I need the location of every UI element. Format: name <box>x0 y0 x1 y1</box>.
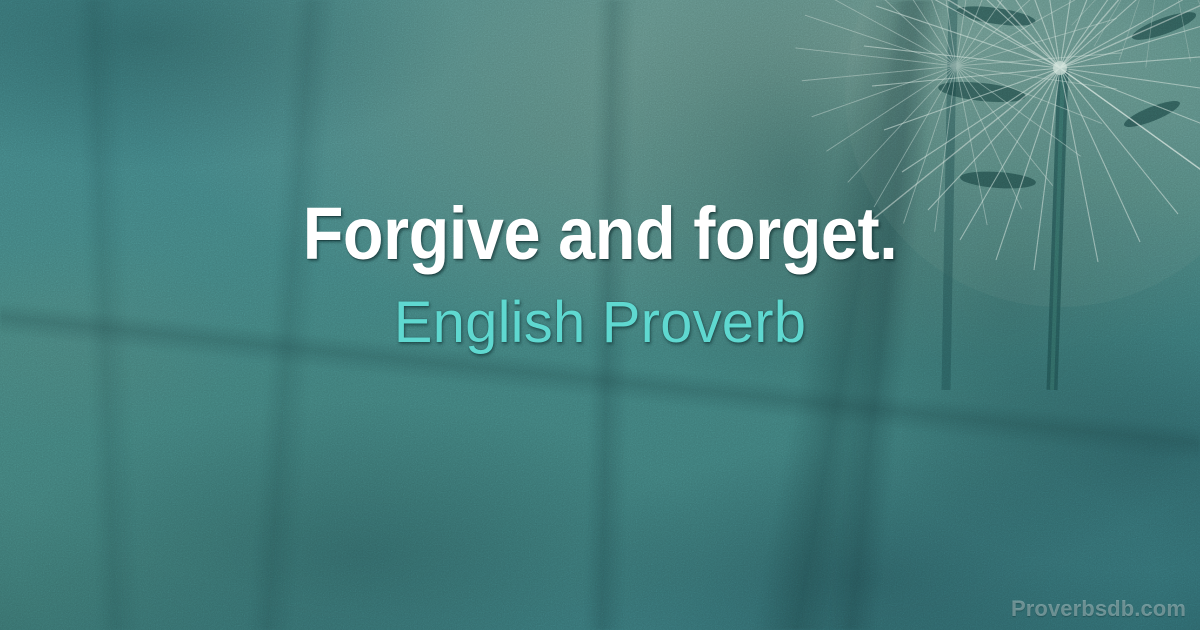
quote-card: Forgive and forget. English Proverb Prov… <box>0 0 1200 630</box>
watermark-proverbsdb: Proverbsdb.com <box>1011 596 1186 622</box>
quote-author: English Proverb <box>0 293 1200 354</box>
quote-block: Forgive and forget. English Proverb <box>0 196 1200 354</box>
quote-text: Forgive and forget. <box>60 196 1140 271</box>
